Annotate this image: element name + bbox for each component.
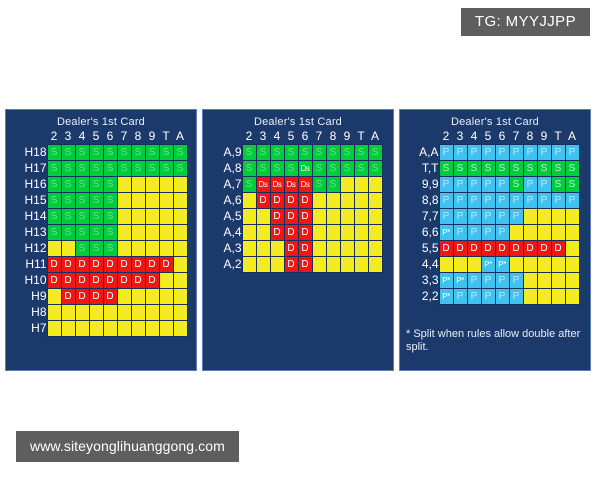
strategy-cell: H xyxy=(340,241,354,257)
strategy-cell: H xyxy=(145,321,159,337)
strategy-cell: H xyxy=(117,177,131,193)
strategy-cell: P xyxy=(453,225,467,241)
strategy-cell: P xyxy=(467,289,481,305)
strategy-cell: D xyxy=(298,209,312,225)
table-row: 9,9PPPPPSPPSS xyxy=(411,177,580,193)
strategy-cell: S xyxy=(523,161,537,177)
table-row: A,9SSSSSSSSSS xyxy=(214,145,383,161)
strategy-cell: D xyxy=(495,241,509,257)
strategy-cell: H xyxy=(368,241,382,257)
strategy-cell: S xyxy=(117,145,131,161)
strategy-cell: H xyxy=(61,305,75,321)
column-header-2: 2 xyxy=(242,129,256,145)
strategy-cell: S xyxy=(551,161,565,177)
strategy-cell: S xyxy=(481,161,495,177)
pairs-corner-cell xyxy=(411,129,440,145)
row-header-44: 4,4 xyxy=(411,257,440,273)
strategy-cell: H xyxy=(131,177,145,193)
column-header-4: 4 xyxy=(467,129,481,145)
strategy-cell: D xyxy=(131,257,145,273)
strategy-cell: S xyxy=(312,161,326,177)
column-header-8: 8 xyxy=(523,129,537,145)
strategy-cell: P xyxy=(509,209,523,225)
row-header-55: 5,5 xyxy=(411,241,440,257)
strategy-cell: H xyxy=(47,289,61,305)
column-header-A: A xyxy=(565,129,579,145)
strategy-cell: P xyxy=(509,145,523,161)
strategy-cell: S xyxy=(340,161,354,177)
strategy-cell: S xyxy=(340,145,354,161)
strategy-cell: D xyxy=(284,257,298,273)
strategy-cell: H xyxy=(509,225,523,241)
strategy-cell: D xyxy=(145,257,159,273)
strategy-cell: P xyxy=(481,145,495,161)
strategy-cell: S xyxy=(312,177,326,193)
strategy-cell: S xyxy=(75,161,89,177)
strategy-cell: P* xyxy=(439,273,453,289)
table-row: H16SSSSSHHHHH xyxy=(15,177,188,193)
column-header-7: 7 xyxy=(312,129,326,145)
strategy-cell: H xyxy=(368,193,382,209)
strategy-cell: P xyxy=(439,145,453,161)
strategy-cell: S xyxy=(326,145,340,161)
table-row: H12HHSSSHHHHH xyxy=(15,241,188,257)
strategy-cell: P xyxy=(537,177,551,193)
row-header-A2: A,2 xyxy=(214,257,243,273)
table-row: 4,4HHHP*P*HHHHH xyxy=(411,257,580,273)
column-header-7: 7 xyxy=(117,129,131,145)
column-header-6: 6 xyxy=(103,129,117,145)
strategy-cell: S xyxy=(159,161,173,177)
strategy-cell: H xyxy=(551,257,565,273)
strategy-cell: S xyxy=(354,161,368,177)
strategy-cell: P xyxy=(565,193,579,209)
strategy-cell: H xyxy=(145,193,159,209)
strategy-cell: S xyxy=(89,209,103,225)
row-header-H10: H10 xyxy=(15,273,48,289)
strategy-cell: S xyxy=(89,161,103,177)
strategy-cell: H xyxy=(242,209,256,225)
strategy-cell: H xyxy=(439,257,453,273)
strategy-cell: H xyxy=(173,193,187,209)
row-header-66: 6,6 xyxy=(411,225,440,241)
strategy-cell: D xyxy=(284,209,298,225)
strategy-cell: S xyxy=(75,145,89,161)
strategy-cell: P xyxy=(439,209,453,225)
strategy-cell: P xyxy=(523,177,537,193)
strategy-cell: D xyxy=(537,241,551,257)
strategy-cell: S xyxy=(509,177,523,193)
strategy-cell: P xyxy=(551,145,565,161)
column-header-9: 9 xyxy=(340,129,354,145)
column-header-3: 3 xyxy=(453,129,467,145)
row-header-99: 9,9 xyxy=(411,177,440,193)
row-header-H11: H11 xyxy=(15,257,48,273)
strategy-cell: H xyxy=(159,241,173,257)
strategy-cell: S xyxy=(89,225,103,241)
strategy-cell: P xyxy=(481,273,495,289)
strategy-cell: P xyxy=(523,193,537,209)
strategy-cell: S xyxy=(75,193,89,209)
soft-totals-table: 23456789TA A,9SSSSSSSSSSA,8SSSSDsSSSSSA,… xyxy=(214,129,383,273)
strategy-cell: S xyxy=(47,193,61,209)
strategy-cell: P* xyxy=(439,289,453,305)
strategy-cell: S xyxy=(103,145,117,161)
strategy-cell: H xyxy=(159,289,173,305)
strategy-cell: D xyxy=(47,273,61,289)
row-header-H13: H13 xyxy=(15,225,48,241)
strategy-cell: P xyxy=(453,289,467,305)
table-row: H14SSSSSHHHHH xyxy=(15,209,188,225)
strategy-cell: S xyxy=(89,145,103,161)
strategy-cell: S xyxy=(326,161,340,177)
strategy-cell: H xyxy=(551,289,565,305)
column-header-5: 5 xyxy=(284,129,298,145)
strategy-cell: H xyxy=(173,257,187,273)
strategy-cell: S xyxy=(242,145,256,161)
tag-badge: TG: MYYJJPP xyxy=(461,8,590,36)
pairs-footnote: * Split when rules allow double after sp… xyxy=(406,328,586,354)
strategy-cell: P xyxy=(481,177,495,193)
panel-soft-header: Dealer's 1st Card xyxy=(207,116,389,128)
strategy-cell: D xyxy=(145,273,159,289)
strategy-cell: P xyxy=(453,209,467,225)
row-header-A3: A,3 xyxy=(214,241,243,257)
strategy-cell: P xyxy=(495,273,509,289)
strategy-cell: H xyxy=(242,257,256,273)
strategy-cell: P xyxy=(509,273,523,289)
strategy-cell: P xyxy=(453,193,467,209)
strategy-cell: D xyxy=(439,241,453,257)
table-row: A,8SSSSDsSSSSS xyxy=(214,161,383,177)
strategy-cell: D xyxy=(270,209,284,225)
strategy-cell: H xyxy=(145,241,159,257)
strategy-cell: S xyxy=(284,145,298,161)
strategy-cell: S xyxy=(89,177,103,193)
strategy-cell: H xyxy=(89,305,103,321)
table-row: 8,8PPPPPPPPPP xyxy=(411,193,580,209)
strategy-cell: D xyxy=(103,257,117,273)
strategy-cell: D xyxy=(298,257,312,273)
row-header-A5: A,5 xyxy=(214,209,243,225)
panel-pairs-header: Dealer's 1st Card xyxy=(404,116,586,128)
row-header-H9: H9 xyxy=(15,289,48,305)
strategy-cell: D xyxy=(284,241,298,257)
column-header-5: 5 xyxy=(481,129,495,145)
strategy-cell: D xyxy=(103,289,117,305)
strategy-cell: D xyxy=(89,289,103,305)
strategy-cell: P xyxy=(467,193,481,209)
strategy-cell: S xyxy=(75,225,89,241)
strategy-cell: H xyxy=(117,289,131,305)
table-row: H18SSSSSSSSSS xyxy=(15,145,188,161)
strategy-cell: P xyxy=(495,145,509,161)
strategy-cell: H xyxy=(159,225,173,241)
strategy-cell: S xyxy=(242,177,256,193)
strategy-cell: H xyxy=(242,225,256,241)
column-header-6: 6 xyxy=(495,129,509,145)
strategy-cell: H xyxy=(537,209,551,225)
strategy-cell: P* xyxy=(481,257,495,273)
strategy-cell: H xyxy=(326,225,340,241)
strategy-cell: S xyxy=(131,145,145,161)
strategy-cell: S xyxy=(467,161,481,177)
strategy-cell: S xyxy=(495,161,509,177)
strategy-cell: D xyxy=(284,193,298,209)
strategy-cell: H xyxy=(523,225,537,241)
hard-corner-cell xyxy=(15,129,48,145)
pairs-body: A,APPPPPPPPPPT,TSSSSSSSSSS9,9PPPPPSPPSS8… xyxy=(411,145,580,305)
strategy-cell: P xyxy=(481,209,495,225)
strategy-cell: H xyxy=(467,257,481,273)
strategy-cell: H xyxy=(312,209,326,225)
strategy-cell: H xyxy=(523,273,537,289)
strategy-cell: H xyxy=(270,241,284,257)
strategy-cell: H xyxy=(368,177,382,193)
strategy-cell: H xyxy=(270,257,284,273)
table-row: H7HHHHHHHHHH xyxy=(15,321,188,337)
column-header-5: 5 xyxy=(89,129,103,145)
strategy-cell: H xyxy=(47,305,61,321)
strategy-cell: P xyxy=(467,273,481,289)
column-header-8: 8 xyxy=(326,129,340,145)
strategy-cell: S xyxy=(47,209,61,225)
strategy-cell: Ds xyxy=(298,177,312,193)
strategy-cell: S xyxy=(565,177,579,193)
strategy-cell: P xyxy=(495,177,509,193)
strategy-cell: H xyxy=(509,257,523,273)
strategy-cell: S xyxy=(61,145,75,161)
strategy-cell: P xyxy=(481,193,495,209)
strategy-cell: H xyxy=(131,289,145,305)
strategy-cell: S xyxy=(368,145,382,161)
strategy-cell: S xyxy=(47,161,61,177)
row-header-A8: A,8 xyxy=(214,161,243,177)
strategy-cell: S xyxy=(103,193,117,209)
strategy-cell: P xyxy=(481,289,495,305)
strategy-cell: S xyxy=(551,177,565,193)
strategy-cell: H xyxy=(523,257,537,273)
row-header-H12: H12 xyxy=(15,241,48,257)
column-header-9: 9 xyxy=(145,129,159,145)
column-header-T: T xyxy=(551,129,565,145)
strategy-cell: H xyxy=(354,193,368,209)
strategy-cell: S xyxy=(117,161,131,177)
strategy-cell: S xyxy=(75,177,89,193)
strategy-cell: H xyxy=(159,273,173,289)
strategy-cell: H xyxy=(173,241,187,257)
strategy-cell: S xyxy=(47,225,61,241)
hard-column-header-row: 23456789TA xyxy=(15,129,188,145)
strategy-cell: H xyxy=(551,225,565,241)
column-header-T: T xyxy=(354,129,368,145)
strategy-cell: H xyxy=(145,177,159,193)
strategy-cell: S xyxy=(326,177,340,193)
strategy-cell: S xyxy=(61,225,75,241)
panel-hard-totals: Dealer's 1st Card 23456789TA H18SSSSSSSS… xyxy=(5,109,197,371)
strategy-cell: H xyxy=(537,289,551,305)
strategy-cell: S xyxy=(173,161,187,177)
strategy-cell: S xyxy=(61,209,75,225)
strategy-cell: S xyxy=(145,161,159,177)
row-header-H7: H7 xyxy=(15,321,48,337)
strategy-cell: Ds xyxy=(298,161,312,177)
table-row: T,TSSSSSSSSSS xyxy=(411,161,580,177)
table-row: H8HHHHHHHHHH xyxy=(15,305,188,321)
table-row: A,4HHDDDHHHHH xyxy=(214,225,383,241)
strategy-cell: H xyxy=(159,305,173,321)
strategy-cell: Ds xyxy=(270,177,284,193)
strategy-cell: S xyxy=(173,145,187,161)
strategy-cell: H xyxy=(368,209,382,225)
row-header-88: 8,8 xyxy=(411,193,440,209)
table-row: 5,5DDDDDDDDDH xyxy=(411,241,580,257)
row-header-H17: H17 xyxy=(15,161,48,177)
strategy-cell: H xyxy=(173,321,187,337)
panel-soft-totals: Dealer's 1st Card 23456789TA A,9SSSSSSSS… xyxy=(202,109,394,371)
strategy-cell: S xyxy=(103,161,117,177)
column-header-4: 4 xyxy=(75,129,89,145)
strategy-cell: P xyxy=(481,225,495,241)
soft-column-header-row: 23456789TA xyxy=(214,129,383,145)
strategy-cell: H xyxy=(173,305,187,321)
strategy-cell: H xyxy=(256,257,270,273)
strategy-cell: H xyxy=(256,241,270,257)
row-header-22: 2,2 xyxy=(411,289,440,305)
hard-totals-body: H18SSSSSSSSSSH17SSSSSSSSSSH16SSSSSHHHHHH… xyxy=(15,145,188,337)
strategy-cell: H xyxy=(117,225,131,241)
column-header-9: 9 xyxy=(537,129,551,145)
row-header-A9: A,9 xyxy=(214,145,243,161)
strategy-cell: H xyxy=(565,209,579,225)
strategy-cell: S xyxy=(103,209,117,225)
strategy-cell: H xyxy=(256,209,270,225)
strategy-cell: D xyxy=(481,241,495,257)
url-banner: www.siteyonglihuanggong.com xyxy=(16,431,239,462)
table-row: A,6HDDDDHHHHH xyxy=(214,193,383,209)
row-header-AA: A,A xyxy=(411,145,440,161)
strategy-cell: H xyxy=(340,193,354,209)
strategy-cell: H xyxy=(565,289,579,305)
strategy-cell: S xyxy=(61,193,75,209)
strategy-cell: H xyxy=(145,209,159,225)
row-header-H14: H14 xyxy=(15,209,48,225)
strategy-cell: D xyxy=(61,257,75,273)
strategy-cell: D xyxy=(159,257,173,273)
strategy-cell: D xyxy=(117,273,131,289)
strategy-cell: H xyxy=(173,209,187,225)
strategy-cell: H xyxy=(61,321,75,337)
strategy-cell: P xyxy=(537,193,551,209)
hard-totals-table: 23456789TA H18SSSSSSSSSSH17SSSSSSSSSSH16… xyxy=(15,129,188,337)
row-header-A6: A,6 xyxy=(214,193,243,209)
strategy-cell: P xyxy=(495,225,509,241)
strategy-cell: P xyxy=(509,193,523,209)
strategy-cell: D xyxy=(131,273,145,289)
strategy-cell: H xyxy=(61,241,75,257)
strategy-cell: S xyxy=(61,177,75,193)
strategy-cell: H xyxy=(242,193,256,209)
strategy-cell: H xyxy=(47,241,61,257)
strategy-cell: H xyxy=(354,241,368,257)
strategy-cell: S xyxy=(312,145,326,161)
strategy-cell: S xyxy=(47,145,61,161)
strategy-cell: H xyxy=(312,225,326,241)
strategy-cell: H xyxy=(340,177,354,193)
column-header-A: A xyxy=(368,129,382,145)
strategy-cell: H xyxy=(131,321,145,337)
pairs-column-header-row: 23456789TA xyxy=(411,129,580,145)
column-header-7: 7 xyxy=(509,129,523,145)
strategy-cell: H xyxy=(551,209,565,225)
strategy-cell: P xyxy=(523,145,537,161)
strategy-cell: H xyxy=(131,241,145,257)
strategy-cell: P xyxy=(495,193,509,209)
strategy-cell: H xyxy=(340,209,354,225)
strategy-cell: S xyxy=(270,161,284,177)
strategy-cell: D xyxy=(89,273,103,289)
strategy-cell: H xyxy=(103,305,117,321)
table-row: H15SSSSSHHHHH xyxy=(15,193,188,209)
strategy-cell: P xyxy=(467,225,481,241)
table-row: A,7SDsDsDsDsSSHHH xyxy=(214,177,383,193)
strategy-cell: D xyxy=(270,225,284,241)
strategy-cell: S xyxy=(565,161,579,177)
strategy-cell: H xyxy=(368,257,382,273)
strategy-cell: D xyxy=(453,241,467,257)
column-header-2: 2 xyxy=(47,129,61,145)
strategy-cell: D xyxy=(551,241,565,257)
strategy-cell: D xyxy=(298,241,312,257)
strategy-cell: H xyxy=(131,193,145,209)
column-header-A: A xyxy=(173,129,187,145)
strategy-cell: S xyxy=(354,145,368,161)
strategy-cell: H xyxy=(131,225,145,241)
strategy-cell: D xyxy=(75,289,89,305)
strategy-cell: P* xyxy=(495,257,509,273)
table-row: H10DDDDDDDDHH xyxy=(15,273,188,289)
strategy-cell: H xyxy=(117,193,131,209)
strategy-cell: S xyxy=(103,177,117,193)
strategy-cell: H xyxy=(117,209,131,225)
strategy-cell: S xyxy=(89,193,103,209)
strategy-cell: P xyxy=(565,145,579,161)
strategy-cell: D xyxy=(75,257,89,273)
strategy-cell: S xyxy=(145,145,159,161)
strategy-cell: S xyxy=(89,241,103,257)
strategy-cell: S xyxy=(453,161,467,177)
table-row: 7,7PPPPPPHHHH xyxy=(411,209,580,225)
column-header-2: 2 xyxy=(439,129,453,145)
row-header-H15: H15 xyxy=(15,193,48,209)
strategy-cell: P* xyxy=(453,273,467,289)
strategy-cell: H xyxy=(523,209,537,225)
table-row: A,5HHDDDHHHHH xyxy=(214,209,383,225)
strategy-cell: H xyxy=(565,225,579,241)
strategy-cell: H xyxy=(89,321,103,337)
strategy-cell: H xyxy=(565,241,579,257)
strategy-cell: P xyxy=(537,145,551,161)
strategy-cell: H xyxy=(326,209,340,225)
table-row: A,APPPPPPPPPP xyxy=(411,145,580,161)
column-header-8: 8 xyxy=(131,129,145,145)
strategy-cell: S xyxy=(131,161,145,177)
strategy-cell: P xyxy=(453,177,467,193)
strategy-cell: H xyxy=(523,289,537,305)
table-row: H11DDDDDDDDDH xyxy=(15,257,188,273)
strategy-cell: S xyxy=(256,161,270,177)
column-header-3: 3 xyxy=(61,129,75,145)
